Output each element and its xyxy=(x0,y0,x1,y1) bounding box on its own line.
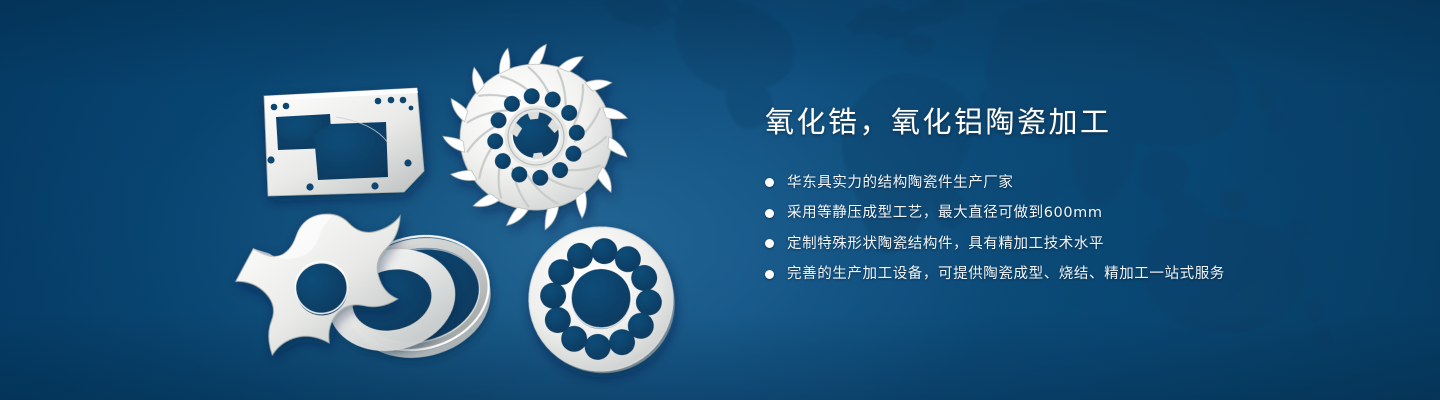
list-item: 完善的生产加工设备，可提供陶瓷成型、烧结、精加工一站式服务 xyxy=(765,263,1385,285)
ceramic-machined-plate xyxy=(264,88,424,196)
hero-banner: 氧化锆，氧化铝陶瓷加工 华东具实力的结构陶瓷件生产厂家 采用等静压成型工艺，最大… xyxy=(0,0,1440,400)
product-photo-cluster xyxy=(0,0,760,400)
list-item: 定制特殊形状陶瓷结构件，具有精加工技术水平 xyxy=(765,233,1385,255)
feature-text: 华东具实力的结构陶瓷件生产厂家 xyxy=(787,172,1014,194)
bullet-dot-icon xyxy=(765,239,774,248)
ceramic-vaned-impeller xyxy=(434,37,638,240)
banner-copy: 氧化锆，氧化铝陶瓷加工 华东具实力的结构陶瓷件生产厂家 采用等静压成型工艺，最大… xyxy=(765,104,1385,286)
bullet-dot-icon xyxy=(765,270,774,279)
list-item: 采用等静压成型工艺，最大直径可做到600mm xyxy=(765,202,1385,224)
ceramic-perforated-disc xyxy=(524,222,680,378)
feature-text: 采用等静压成型工艺，最大直径可做到600mm xyxy=(787,202,1103,224)
bullet-dot-icon xyxy=(765,178,774,187)
page-title: 氧化锆，氧化铝陶瓷加工 xyxy=(765,104,1385,142)
list-item: 华东具实力的结构陶瓷件生产厂家 xyxy=(765,172,1385,194)
feature-list: 华东具实力的结构陶瓷件生产厂家 采用等静压成型工艺，最大直径可做到600mm 定… xyxy=(765,172,1385,286)
feature-text: 完善的生产加工设备，可提供陶瓷成型、烧结、精加工一站式服务 xyxy=(787,263,1225,285)
feature-text: 定制特殊形状陶瓷结构件，具有精加工技术水平 xyxy=(787,233,1104,255)
bullet-dot-icon xyxy=(765,209,774,218)
